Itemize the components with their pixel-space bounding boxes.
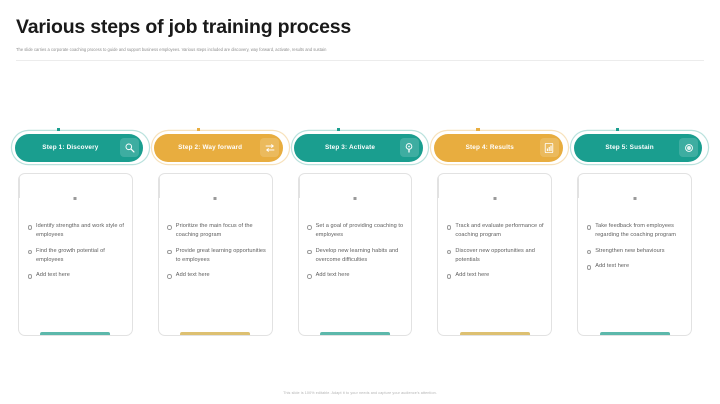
bar-chart-report-icon: [540, 138, 559, 157]
step-badge-wrap: Step 1: Discovery: [12, 128, 149, 164]
card-connector-line: [19, 174, 20, 198]
bullet-list: Take feedback from employees regarding t…: [586, 222, 686, 278]
step-body-card: Identify strengths and work style of emp…: [18, 173, 133, 336]
card-connector-line: [159, 174, 160, 198]
card-accent-bar: [600, 332, 670, 335]
list-item: Add text here: [167, 271, 267, 280]
header-divider: [16, 60, 704, 61]
step-card-2[interactable]: Step 2: Way forward Prioritize the main …: [152, 128, 289, 338]
card-accent-bar: [460, 332, 530, 335]
lightbulb-icon: [400, 138, 419, 157]
card-top-dot: [353, 197, 356, 200]
step-badge-wrap: Step 4: Results: [431, 128, 568, 164]
list-item: Provide great learning opportunities to …: [167, 247, 267, 265]
step-label: Step 2: Way forward: [162, 144, 260, 151]
step-badge[interactable]: Step 1: Discovery: [15, 134, 144, 162]
step-body-card: Take feedback from employees regarding t…: [577, 173, 692, 336]
list-item: Discover new opportunities and potential…: [446, 247, 546, 265]
step-body-card: Prioritize the main focus of the coachin…: [158, 173, 273, 336]
step-card-1[interactable]: Step 1: Discovery Identify strengths and…: [12, 128, 149, 338]
step-badge-wrap: Step 5: Sustain: [571, 128, 708, 164]
card-connector-line: [578, 174, 579, 198]
step-body-card: Track and evaluate performance of coachi…: [437, 173, 552, 336]
bullet-list: Set a goal of providing coaching to empl…: [307, 222, 407, 287]
list-item: Add text here: [307, 271, 407, 280]
step-label: Step 3: Activate: [302, 144, 400, 151]
list-item: Track and evaluate performance of coachi…: [446, 222, 546, 240]
step-badge[interactable]: Step 3: Activate: [294, 134, 423, 162]
bullet-list: Prioritize the main focus of the coachin…: [167, 222, 267, 287]
step-badge-wrap: Step 3: Activate: [292, 128, 429, 164]
exchange-arrows-icon: [260, 138, 279, 157]
step-card-3[interactable]: Step 3: Activate Set a goal of providing…: [292, 128, 429, 338]
list-item: Identify strengths and work style of emp…: [27, 222, 127, 240]
card-connector-line: [438, 174, 439, 198]
list-item: Set a goal of providing coaching to empl…: [307, 222, 407, 240]
card-top-dot: [493, 197, 496, 200]
step-badge[interactable]: Step 2: Way forward: [154, 134, 283, 162]
footer-note: This slide is 100% editable. Adapt it to…: [0, 391, 720, 395]
step-label: Step 5: Sustain: [582, 144, 680, 151]
card-accent-bar: [180, 332, 250, 335]
step-label: Step 1: Discovery: [23, 144, 121, 151]
step-badge[interactable]: Step 4: Results: [434, 134, 563, 162]
card-connector-line: [299, 174, 300, 198]
list-item: Take feedback from employees regarding t…: [586, 222, 686, 240]
magnifier-icon: [120, 138, 139, 157]
step-badge[interactable]: Step 5: Sustain: [574, 134, 703, 162]
list-item: Add text here: [446, 271, 546, 280]
page-title: Various steps of job training process: [16, 17, 704, 38]
steps-row: Step 1: Discovery Identify strengths and…: [12, 128, 708, 338]
page-subtitle: The slide carries a corporate coaching p…: [16, 47, 704, 52]
bullet-list: Identify strengths and work style of emp…: [27, 222, 127, 287]
refresh-cycle-icon: [679, 138, 698, 157]
card-top-dot: [214, 197, 217, 200]
step-card-5[interactable]: Step 5: Sustain Take feedback from emplo…: [571, 128, 708, 338]
card-accent-bar: [320, 332, 390, 335]
slide-canvas: Various steps of job training process Th…: [0, 0, 720, 404]
step-card-4[interactable]: Step 4: Results Track and evaluate perfo…: [431, 128, 568, 338]
bullet-list: Track and evaluate performance of coachi…: [446, 222, 546, 287]
list-item: Strengthen new behaviours: [586, 247, 686, 256]
step-label: Step 4: Results: [442, 144, 540, 151]
card-top-dot: [74, 197, 77, 200]
list-item: Add text here: [586, 262, 686, 271]
card-accent-bar: [40, 332, 110, 335]
list-item: Develop new learning habits and overcome…: [307, 247, 407, 265]
slide-header: Various steps of job training process Th…: [0, 0, 720, 53]
card-top-dot: [633, 197, 636, 200]
list-item: Add text here: [27, 271, 127, 280]
list-item: Prioritize the main focus of the coachin…: [167, 222, 267, 240]
step-badge-wrap: Step 2: Way forward: [152, 128, 289, 164]
list-item: Find the growth potential of employees: [27, 247, 127, 265]
step-body-card: Set a goal of providing coaching to empl…: [298, 173, 413, 336]
